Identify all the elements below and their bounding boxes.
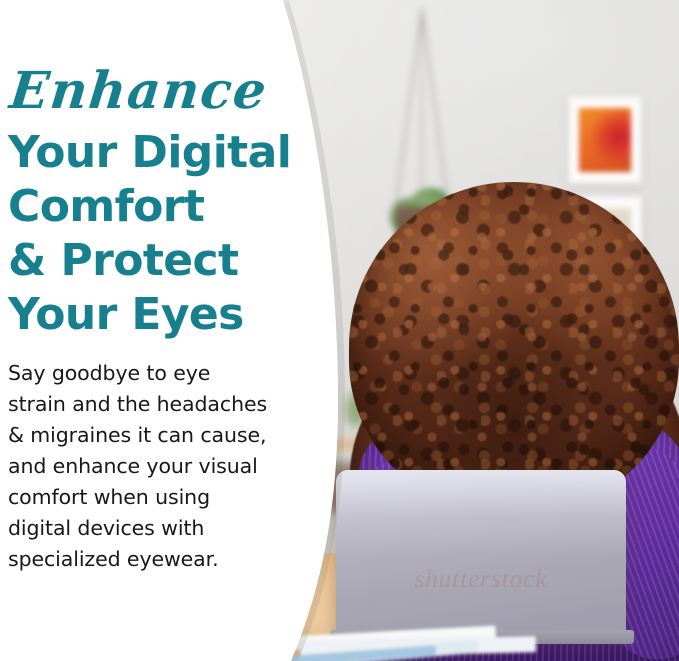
headline-line-1: Your Digital — [8, 131, 291, 175]
body-line-7: specialized eyewear. — [8, 544, 298, 575]
body-line-6: digital devices with — [8, 513, 298, 544]
copy-block: Enhance Your Digital Comfort & Protect Y… — [0, 0, 300, 661]
body-line-2: strain and the headaches — [8, 389, 298, 420]
headline-line-3: & Protect — [8, 239, 238, 283]
body-paragraph: Say goodbye to eye strain and the headac… — [8, 358, 298, 575]
promo-banner: shutterstock Enhance Your Digital Comfor… — [0, 0, 679, 661]
laptop-screen-back-sheen — [336, 470, 626, 556]
headline-line-4: Your Eyes — [8, 293, 244, 337]
photo-watermark: shutterstock — [356, 566, 606, 594]
body-line-4: and enhance your visual — [8, 451, 298, 482]
desk-papers — [286, 603, 546, 661]
headline-script-word: Enhance — [7, 66, 270, 117]
body-line-5: comfort when using — [8, 482, 298, 513]
headline-line-2: Comfort — [8, 185, 204, 229]
body-line-3: & migraines it can cause, — [8, 420, 298, 451]
curly-hair — [349, 182, 679, 512]
body-line-1: Say goodbye to eye — [8, 358, 298, 389]
hair-curl-texture — [349, 182, 679, 512]
